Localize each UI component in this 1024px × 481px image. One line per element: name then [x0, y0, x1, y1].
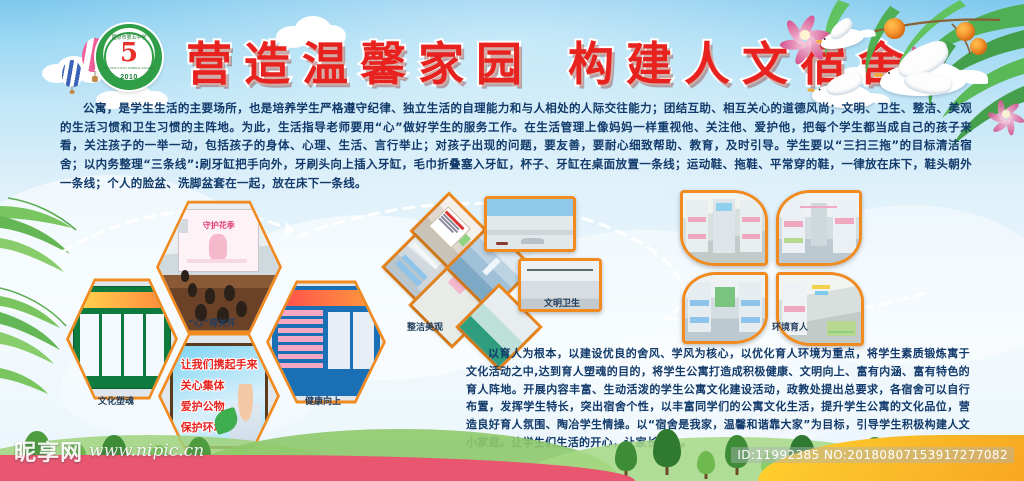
logo-year: 2010	[120, 74, 138, 81]
poster-title-left: 营造温馨家园	[186, 28, 534, 94]
watermark-id-text: ID:11992385 NO:20180807153917277082	[731, 447, 1014, 463]
tree-icon	[614, 441, 638, 477]
tree-icon	[696, 451, 716, 479]
caption-healthy-up: 健康向上	[305, 394, 341, 407]
caption-culture-soul: 文化塑魂	[98, 394, 134, 407]
slogan-line-1: 让我们携起手来	[181, 356, 258, 372]
tree-icon	[652, 429, 682, 475]
lily-center	[1002, 110, 1009, 117]
slogan-line-2: 关心集体	[181, 377, 225, 393]
watermark-url-text: www.nipic.cn	[89, 441, 204, 461]
poster-canvas: 固原市第五中学 5 GUYUAN FIFTH MIDDLE SCHOOL 201…	[0, 0, 1024, 481]
watermark-cn-text: 昵享网	[14, 435, 83, 467]
caption-civil-hygiene: 文明卫生	[544, 296, 580, 309]
orange-fruit-icon	[970, 38, 987, 55]
board-heading-banner	[78, 292, 166, 308]
photo-dorm-room-4[interactable]	[776, 272, 864, 346]
paragraph-top: 公寓，是学生生活的主要场所，也是培养学生严格遵守纪律、独立生活的自理能力和与人相…	[60, 99, 972, 192]
photo-school-gate[interactable]	[484, 196, 576, 252]
projector-screen-title: 守护花季	[203, 220, 235, 231]
lily-center	[800, 30, 809, 39]
photo-dorm-room-1[interactable]	[680, 190, 768, 266]
dove-icon	[880, 62, 966, 96]
logo-arc-bottom-text: GUYUAN FIFTH MIDDLE SCHOOL	[96, 66, 162, 70]
school-logo: 固原市第五中学 5 GUYUAN FIFTH MIDDLE SCHOOL 201…	[96, 24, 162, 90]
slogan-line-3: 爱护公物	[181, 398, 225, 414]
hot-air-balloon-blue	[62, 60, 82, 94]
logo-mark: 5	[120, 40, 138, 66]
photo-dorm-room-2[interactable]	[776, 190, 862, 266]
lily-flower-icon	[984, 92, 1024, 136]
photo-dorm-room-3[interactable]	[682, 272, 768, 344]
orange-fruit-icon	[956, 22, 975, 41]
caption-tidy-beauty: 整洁美观	[407, 320, 443, 333]
site-watermark: 昵享网 www.nipic.cn	[14, 435, 204, 467]
caption-heart-care: “心”得关怀	[188, 316, 236, 329]
caption-env-educate: 环境育人	[772, 320, 808, 333]
